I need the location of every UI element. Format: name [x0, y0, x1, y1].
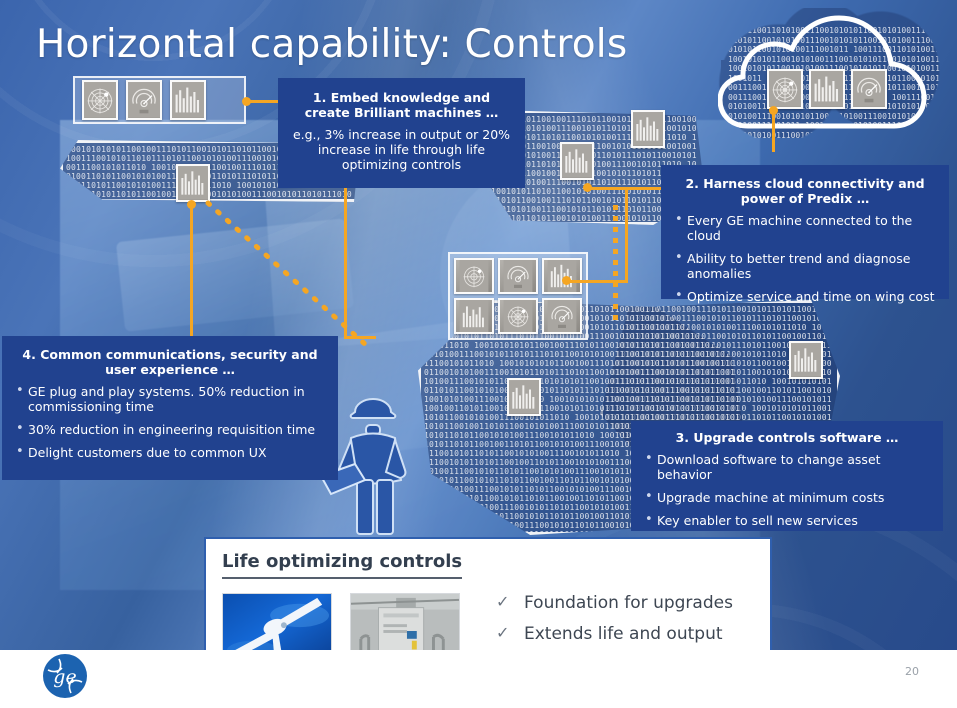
list-item: Key enabler to sell new services: [643, 513, 931, 528]
check-icon: ✓: [496, 595, 510, 611]
list-item: Delight customers due to common UX: [14, 445, 326, 460]
tile-gauge-icon: [542, 298, 582, 334]
list-item: ✓ Foundation for upgrades: [496, 593, 733, 613]
svg-text:ge: ge: [53, 666, 76, 688]
check-label: Extends life and output: [524, 624, 723, 644]
list-item: Download software to change asset behavi…: [643, 452, 931, 482]
callout-4-bullets: GE plug and play systems. 50% reduction …: [14, 384, 326, 460]
panel-title: Life optimizing controls: [222, 551, 462, 579]
list-item: Optimize service and time on wing cost: [673, 289, 937, 304]
top-left-icon-panel: [73, 76, 246, 124]
tile-bar-chart-icon: [507, 378, 541, 416]
tile-gauge-icon: [851, 69, 887, 109]
connector-line-3b: [567, 280, 628, 283]
list-item: 30% reduction in engineering requisition…: [14, 422, 326, 437]
tile-gauge-icon: [498, 258, 538, 294]
center-icon-cluster: [448, 252, 588, 340]
tile-radar-icon: [454, 258, 494, 294]
tile-radar-icon: [767, 69, 803, 109]
tile-bar-chart-icon: [789, 341, 823, 379]
list-item: ✓ Extends life and output: [496, 624, 733, 644]
callout-1-subtext: e.g., 3% increase in output or 20% incre…: [292, 127, 511, 172]
tile-bar-chart-icon: [454, 298, 494, 334]
tile-radar-icon: [82, 80, 118, 120]
check-label: Foundation for upgrades: [524, 593, 733, 613]
list-item: GE plug and play systems. 50% reduction …: [14, 384, 326, 414]
slide-canvas: 1001010101011001001110101100101011010110…: [0, 0, 957, 708]
slide-title: Horizontal capability: Controls: [36, 22, 627, 67]
tile-bar-chart-icon: [542, 258, 582, 294]
list-item: Ability to better trend and diagnose ano…: [673, 251, 937, 281]
connector-dashed-right: [613, 205, 618, 323]
connector-line-1: [246, 100, 280, 103]
connector-line-cloud: [772, 110, 775, 152]
tile-gauge-icon: [126, 80, 162, 120]
tile-radar-icon: [498, 298, 538, 334]
tile-bar-chart-icon: [631, 110, 665, 148]
callout-3: 3. Upgrade controls software … Download …: [631, 421, 943, 531]
callout-3-bullets: Download software to change asset behavi…: [643, 452, 931, 528]
callout-1: 1. Embed knowledge and create Brilliant …: [278, 78, 525, 188]
page-number: 20: [905, 665, 919, 678]
callout-2-bullets: Every GE machine connected to the cloud …: [673, 213, 937, 304]
list-item: Upgrade machine at minimum costs: [643, 490, 931, 505]
cloud-graphic: 1001110011010100111001010101100101010011…: [718, 8, 950, 138]
list-item: Every GE machine connected to the cloud: [673, 213, 937, 243]
callout-1-heading: 1. Embed knowledge and create Brilliant …: [292, 90, 511, 120]
connector-dashed-diagonal: [200, 195, 380, 355]
callout-2-heading: 2. Harness cloud connectivity and power …: [673, 176, 937, 206]
tile-bar-chart-icon: [170, 80, 206, 120]
callout-2: 2. Harness cloud connectivity and power …: [661, 165, 949, 299]
check-icon: ✓: [496, 626, 510, 642]
connector-dot-2: [187, 200, 196, 209]
callout-4: 4. Common communications, security and u…: [2, 336, 338, 480]
slide-footer: [0, 650, 957, 708]
connector-dot-1: [242, 97, 251, 106]
tile-bar-chart-icon: [560, 142, 594, 180]
connector-line-3v: [625, 187, 628, 282]
connector-dot-3b: [562, 276, 571, 285]
connector-dot-3: [583, 183, 592, 192]
callout-4-heading: 4. Common communications, security and u…: [14, 347, 326, 377]
tile-bar-chart-icon: [809, 69, 845, 109]
callout-3-heading: 3. Upgrade controls software …: [643, 430, 931, 445]
ge-logo: ge: [41, 652, 89, 700]
connector-dot-cloud: [769, 106, 778, 115]
